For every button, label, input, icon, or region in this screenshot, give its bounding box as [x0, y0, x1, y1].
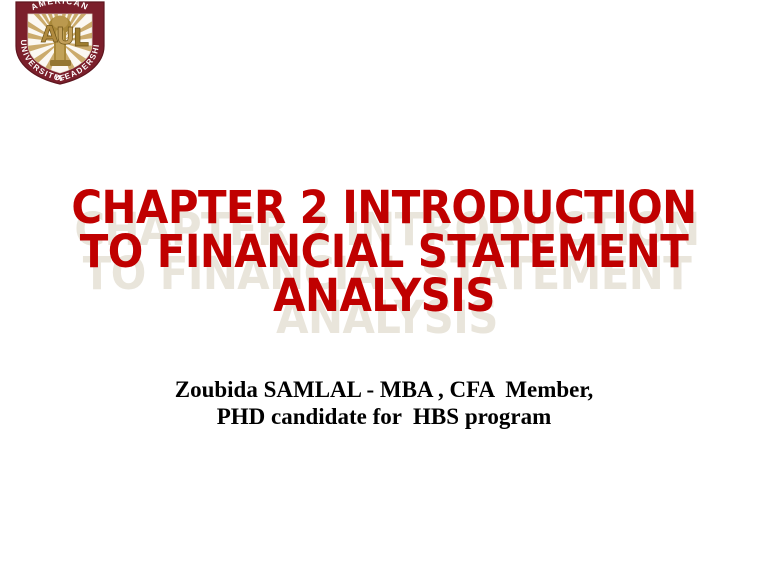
slide-title-text: CHAPTER 2 INTRODUCTION TO FINANCIAL STAT… [59, 186, 710, 318]
slide-canvas: A U L AMERICAN UNIVERSITY OF [0, 0, 768, 576]
shield-icon: A U L AMERICAN UNIVERSITY OF [6, 0, 114, 88]
slide-subtitle: Zoubida SAMLAL - MBA , CFA Member, PHD c… [34, 376, 734, 430]
logo-monogram-letter-u: U [56, 24, 75, 50]
logo-monogram-letter-l: L [73, 23, 89, 52]
slide-title: CHAPTER 2 INTRODUCTION TO FINANCIAL STAT… [34, 186, 734, 318]
subtitle-line-credentials: PHD candidate for HBS program [34, 403, 734, 430]
university-logo: A U L AMERICAN UNIVERSITY OF [6, 0, 118, 90]
subtitle-line-presenter: Zoubida SAMLAL - MBA , CFA Member, [34, 376, 734, 403]
